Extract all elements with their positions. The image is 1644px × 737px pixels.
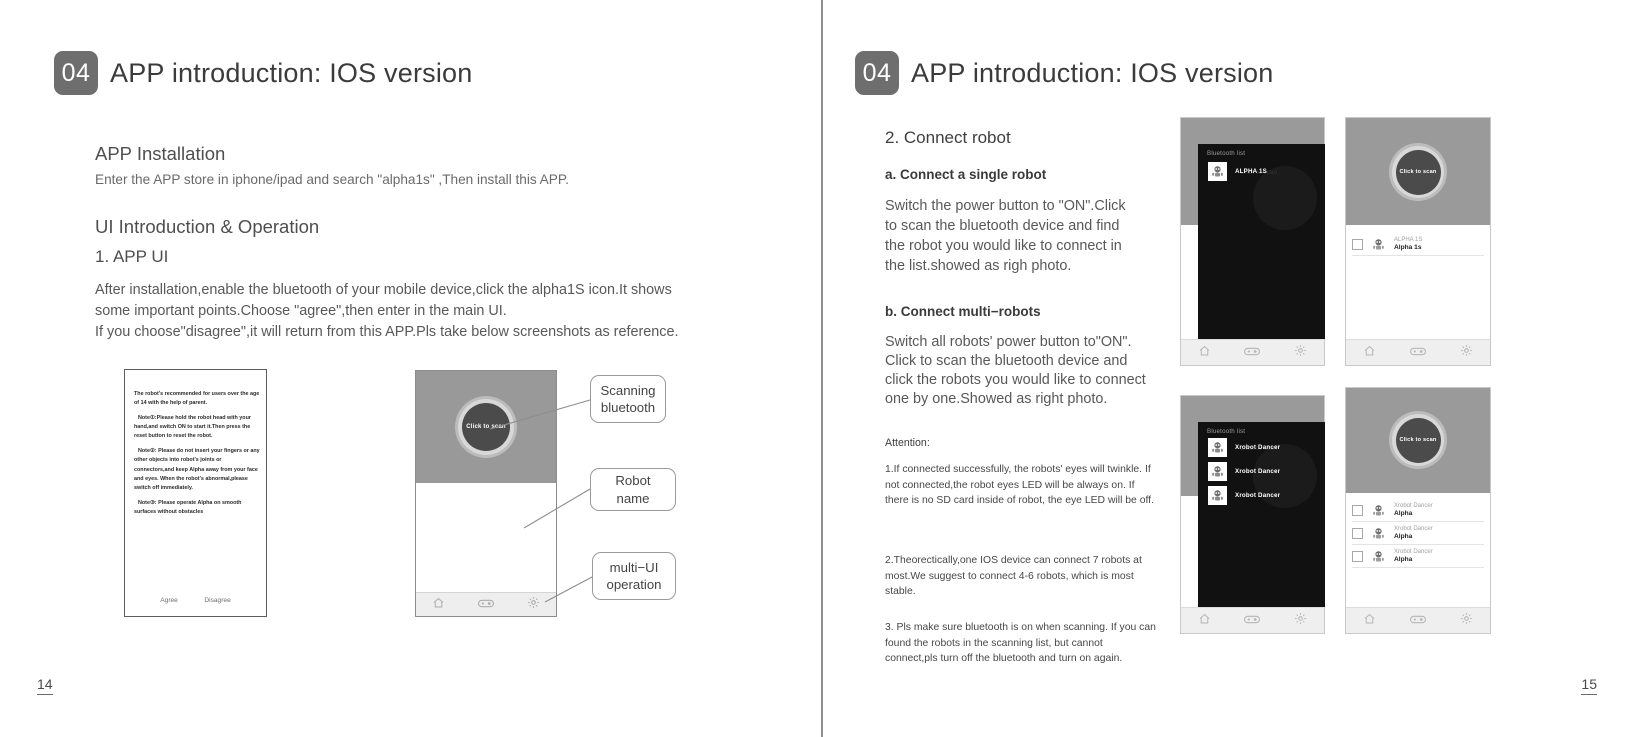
attention-item-1: 1.If connected successfully, the robots'… xyxy=(885,462,1157,509)
device-row[interactable]: Xrobot Dancer Alpha xyxy=(1352,522,1484,545)
callout-robot-name: Robot name xyxy=(590,468,676,511)
scan-ring: Click to scan xyxy=(1389,411,1447,469)
click-to-scan-label: Click to scan xyxy=(1399,169,1436,175)
screenshot-eula: The robot's recommended for users over t… xyxy=(124,369,267,617)
robot-icon xyxy=(1208,438,1227,457)
bluetooth-device-name: Xrobot Dancer xyxy=(1235,444,1280,451)
gear-icon[interactable] xyxy=(1294,612,1307,630)
bluetooth-device-name: ALPHA 1S xyxy=(1235,168,1267,175)
bluetooth-device-row[interactable]: Xrobot Dancer xyxy=(1208,462,1280,481)
page-number-left: 14 xyxy=(37,677,53,695)
callout-line2: operation xyxy=(607,576,662,593)
eula-paragraph: Note②: Please do not insert your fingers… xyxy=(134,447,262,492)
bottom-nav-bar xyxy=(416,592,556,616)
device-name: Alpha xyxy=(1394,510,1433,518)
heading-connect-robot: 2. Connect robot xyxy=(885,128,1011,148)
gamepad-icon[interactable] xyxy=(1244,612,1260,630)
click-to-scan-button[interactable]: Click to scan xyxy=(1396,150,1441,195)
callout-line1: Scanning xyxy=(601,382,656,399)
screenshot-main-ui: Click to scan xyxy=(415,370,557,617)
chapter-badge-left: 04 xyxy=(54,51,98,95)
gamepad-icon[interactable] xyxy=(1244,344,1260,362)
home-icon[interactable] xyxy=(1198,612,1211,630)
manual-spread: 04 APP introduction: IOS version APP Ins… xyxy=(0,0,1644,737)
text-app-ui-line3: If you choose"disagree",it will return f… xyxy=(95,321,745,344)
robot-icon xyxy=(1370,525,1387,542)
callout-scanning-bluetooth: Scanning bluetooth xyxy=(590,375,666,423)
device-checkbox[interactable] xyxy=(1352,239,1363,250)
click-to-scan-label: Click to scan xyxy=(1399,437,1436,443)
device-name: Alpha xyxy=(1394,533,1433,541)
heading-connect-single: a. Connect a single robot xyxy=(885,167,1046,182)
heading-connect-multi: b. Connect multi−robots xyxy=(885,304,1041,319)
gear-icon[interactable] xyxy=(1460,612,1473,630)
eula-paragraph: Note①:Please hold the robot head with yo… xyxy=(134,414,262,441)
device-row[interactable]: Xrobot Dancer Alpha xyxy=(1352,545,1484,568)
heading-ui-introduction: UI Introduction & Operation xyxy=(95,216,319,238)
scan-ring: Click to scan xyxy=(1389,143,1447,201)
left-page: 04 APP introduction: IOS version APP Ins… xyxy=(0,0,821,737)
robot-icon xyxy=(1208,162,1227,181)
home-icon[interactable] xyxy=(432,596,445,614)
heading-app-ui: 1. APP UI xyxy=(95,247,168,267)
home-icon[interactable] xyxy=(1363,344,1376,362)
chapter-badge-right: 04 xyxy=(855,51,899,95)
page-title-left: APP introduction: IOS version xyxy=(110,58,472,89)
scan-ring: Click to scan xyxy=(455,396,517,458)
eula-action-row: Agree Disagree xyxy=(125,597,266,604)
callout-line1: multi−UI xyxy=(610,559,659,576)
click-to-scan-label: Click to scan xyxy=(466,424,506,430)
gamepad-icon[interactable] xyxy=(1410,612,1426,630)
bluetooth-device-row[interactable]: Xrobot Dancer xyxy=(1208,438,1280,457)
bluetooth-device-name: Xrobot Dancer xyxy=(1235,492,1280,499)
eula-text-block: The robot's recommended for users over t… xyxy=(134,390,262,523)
device-name: Alpha xyxy=(1394,556,1433,564)
device-list-area: Xrobot Dancer Alpha Xrobot Dancer Alpha xyxy=(1346,493,1490,607)
attention-item-3: 3. Pls make sure bluetooth is on when sc… xyxy=(885,620,1157,667)
device-list-area: ALPHA 1S Alpha 1s xyxy=(1346,225,1490,339)
device-meta: Xrobot Dancer Alpha xyxy=(1394,526,1433,541)
text-multi-line4: one by one.Showed as right photo. xyxy=(885,388,1205,411)
attention-label: Attention: xyxy=(885,437,930,449)
robot-icon xyxy=(1370,236,1387,253)
device-id: ALPHA 1S xyxy=(1394,237,1422,244)
bottom-nav-bar xyxy=(1346,607,1490,633)
device-row[interactable]: Xrobot Dancer Alpha xyxy=(1352,499,1484,522)
bluetooth-list-title: Bluetooth list xyxy=(1207,428,1245,435)
text-app-ui-line1: After installation,enable the bluetooth … xyxy=(95,279,735,302)
click-to-scan-button[interactable]: Click to scan xyxy=(1396,418,1441,463)
bluetooth-device-row[interactable]: Xrobot Dancer xyxy=(1208,486,1280,505)
scan-hero-area: Click to scan xyxy=(416,371,556,483)
page-title-right: APP introduction: IOS version xyxy=(911,58,1273,89)
agree-button[interactable]: Agree xyxy=(160,597,178,604)
gamepad-icon[interactable] xyxy=(1410,344,1426,362)
text-app-installation-body: Enter the APP store in iphone/ipad and s… xyxy=(95,169,715,190)
bottom-nav-bar xyxy=(1181,607,1324,633)
eula-paragraph: Note③: Please operate Alpha on smooth su… xyxy=(134,499,262,517)
bottom-nav-bar xyxy=(1181,339,1324,365)
gamepad-icon[interactable] xyxy=(478,596,494,614)
text-app-ui-line2: some important points.Choose "agree",the… xyxy=(95,300,735,323)
device-id: Xrobot Dancer xyxy=(1394,526,1433,533)
bluetooth-list-panel: Bluetooth list Click to scan ALPHA 1S xyxy=(1198,144,1325,339)
bluetooth-device-name: Xrobot Dancer xyxy=(1235,468,1280,475)
screenshot-multi-bluetooth-list: Bluetooth list Click to scan Xrobot Danc… xyxy=(1180,395,1325,634)
gear-icon[interactable] xyxy=(527,596,540,614)
screenshot-single-bluetooth-list: Bluetooth list Click to scan ALPHA 1S xyxy=(1180,117,1325,366)
bottom-nav-bar xyxy=(1346,339,1490,365)
screenshot-multi-device-list: Click to scan Xrobot Dancer Alpha xyxy=(1345,387,1491,634)
device-meta: ALPHA 1S Alpha 1s xyxy=(1394,237,1422,252)
device-id: Xrobot Dancer xyxy=(1394,503,1433,510)
attention-item-2: 2.Theorectically,one IOS device can conn… xyxy=(885,553,1157,600)
device-checkbox[interactable] xyxy=(1352,551,1363,562)
device-meta: Xrobot Dancer Alpha xyxy=(1394,503,1433,518)
device-checkbox[interactable] xyxy=(1352,505,1363,516)
robot-icon xyxy=(1370,548,1387,565)
callout-line2: bluetooth xyxy=(601,399,655,416)
device-checkbox[interactable] xyxy=(1352,528,1363,539)
gear-icon[interactable] xyxy=(1294,344,1307,362)
text-single-line4: the list.showed as righ photo. xyxy=(885,255,1175,278)
scan-hero-area: Click to scan xyxy=(1346,118,1490,225)
robot-list-area xyxy=(416,483,556,592)
click-to-scan-button[interactable]: Click to scan xyxy=(462,403,510,451)
robot-icon xyxy=(1370,502,1387,519)
gear-icon[interactable] xyxy=(1460,344,1473,362)
robot-icon xyxy=(1208,462,1227,481)
heading-app-installation: APP Installation xyxy=(95,143,225,165)
device-name: Alpha 1s xyxy=(1394,244,1422,252)
scan-hero-area: Click to scan xyxy=(1346,388,1490,493)
robot-icon xyxy=(1208,486,1227,505)
bluetooth-device-row[interactable]: ALPHA 1S xyxy=(1208,162,1267,181)
device-row[interactable]: ALPHA 1S Alpha 1s xyxy=(1352,233,1484,256)
device-id: Xrobot Dancer xyxy=(1394,549,1433,556)
bluetooth-list-title: Bluetooth list xyxy=(1207,150,1245,157)
disagree-button[interactable]: Disagree xyxy=(204,597,230,604)
screenshot-single-device-list: Click to scan xyxy=(1345,117,1491,366)
home-icon[interactable] xyxy=(1363,612,1376,630)
bluetooth-list-panel: Bluetooth list Click to scan Xrobot Danc… xyxy=(1198,422,1325,607)
page-number-right: 15 xyxy=(1581,677,1597,695)
eula-paragraph: The robot's recommended for users over t… xyxy=(134,390,262,408)
home-icon[interactable] xyxy=(1198,344,1211,362)
right-page: 04 APP introduction: IOS version 2. Conn… xyxy=(823,0,1644,737)
callout-multi-ui-operation: multi−UI operation xyxy=(592,552,676,600)
callout-line1: Robot name xyxy=(599,472,667,507)
device-meta: Xrobot Dancer Alpha xyxy=(1394,549,1433,564)
